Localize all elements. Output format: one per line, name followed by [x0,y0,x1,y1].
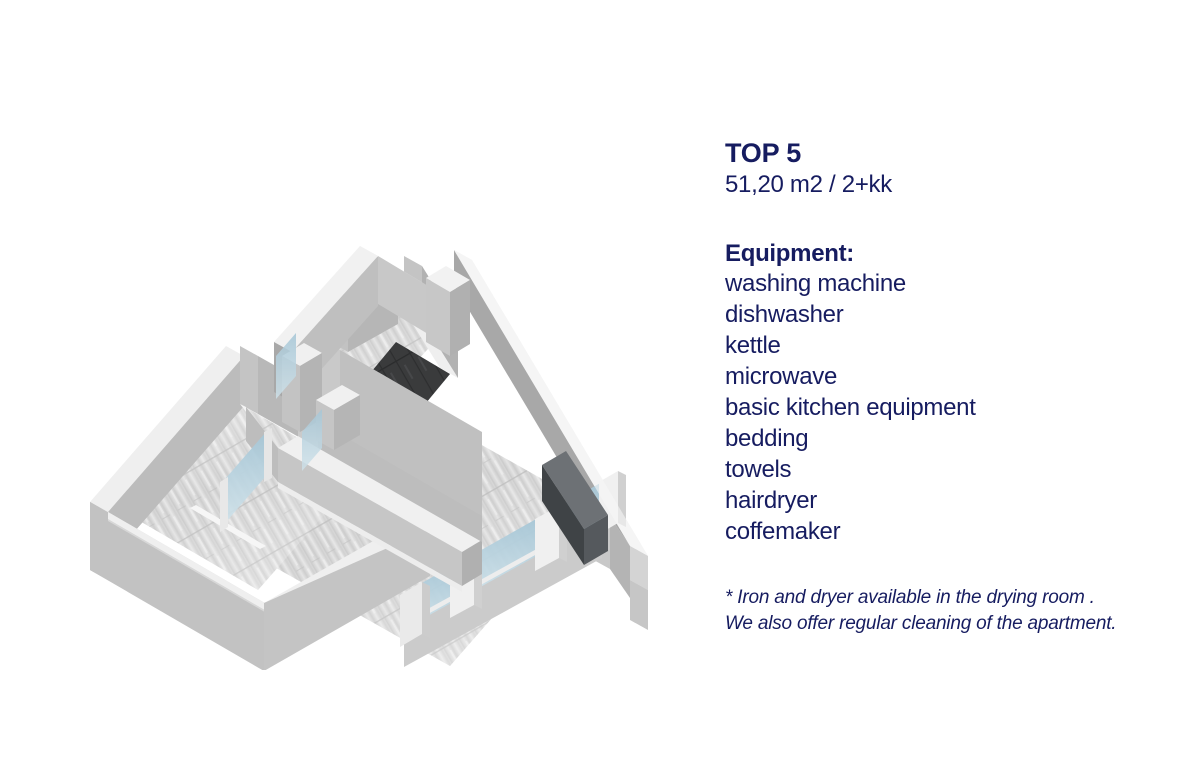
page-title: TOP 5 [725,138,1175,168]
list-item: dishwasher [725,299,1175,330]
list-item: hairdryer [725,485,1175,516]
floorplan-illustration [30,110,690,670]
footnote-line-2: We also offer regular cleaning of the ap… [725,611,1175,637]
list-item: washing machine [725,268,1175,299]
list-item: bedding [725,423,1175,454]
page-root: TOP 5 51,20 m2 / 2+kk Equipment: washing… [0,0,1200,779]
equipment-list: washing machine dishwasher kettle microw… [725,268,1175,547]
corner-pillar-face-right [450,280,470,356]
floorplan-svg [30,110,690,670]
list-item: kettle [725,330,1175,361]
partition-central-face-left [240,346,258,414]
list-item: basic kitchen equipment [725,392,1175,423]
list-item: microwave [725,361,1175,392]
apartment-info-panel: TOP 5 51,20 m2 / 2+kk Equipment: washing… [725,138,1175,637]
footnote-line-1: * Iron and dryer available in the drying… [725,585,1175,611]
list-item: towels [725,454,1175,485]
unit-area-layout: 51,20 m2 / 2+kk [725,170,1175,200]
footnote: * Iron and dryer available in the drying… [725,585,1175,637]
list-item: coffemaker [725,516,1175,547]
equipment-heading: Equipment: [725,240,1175,268]
